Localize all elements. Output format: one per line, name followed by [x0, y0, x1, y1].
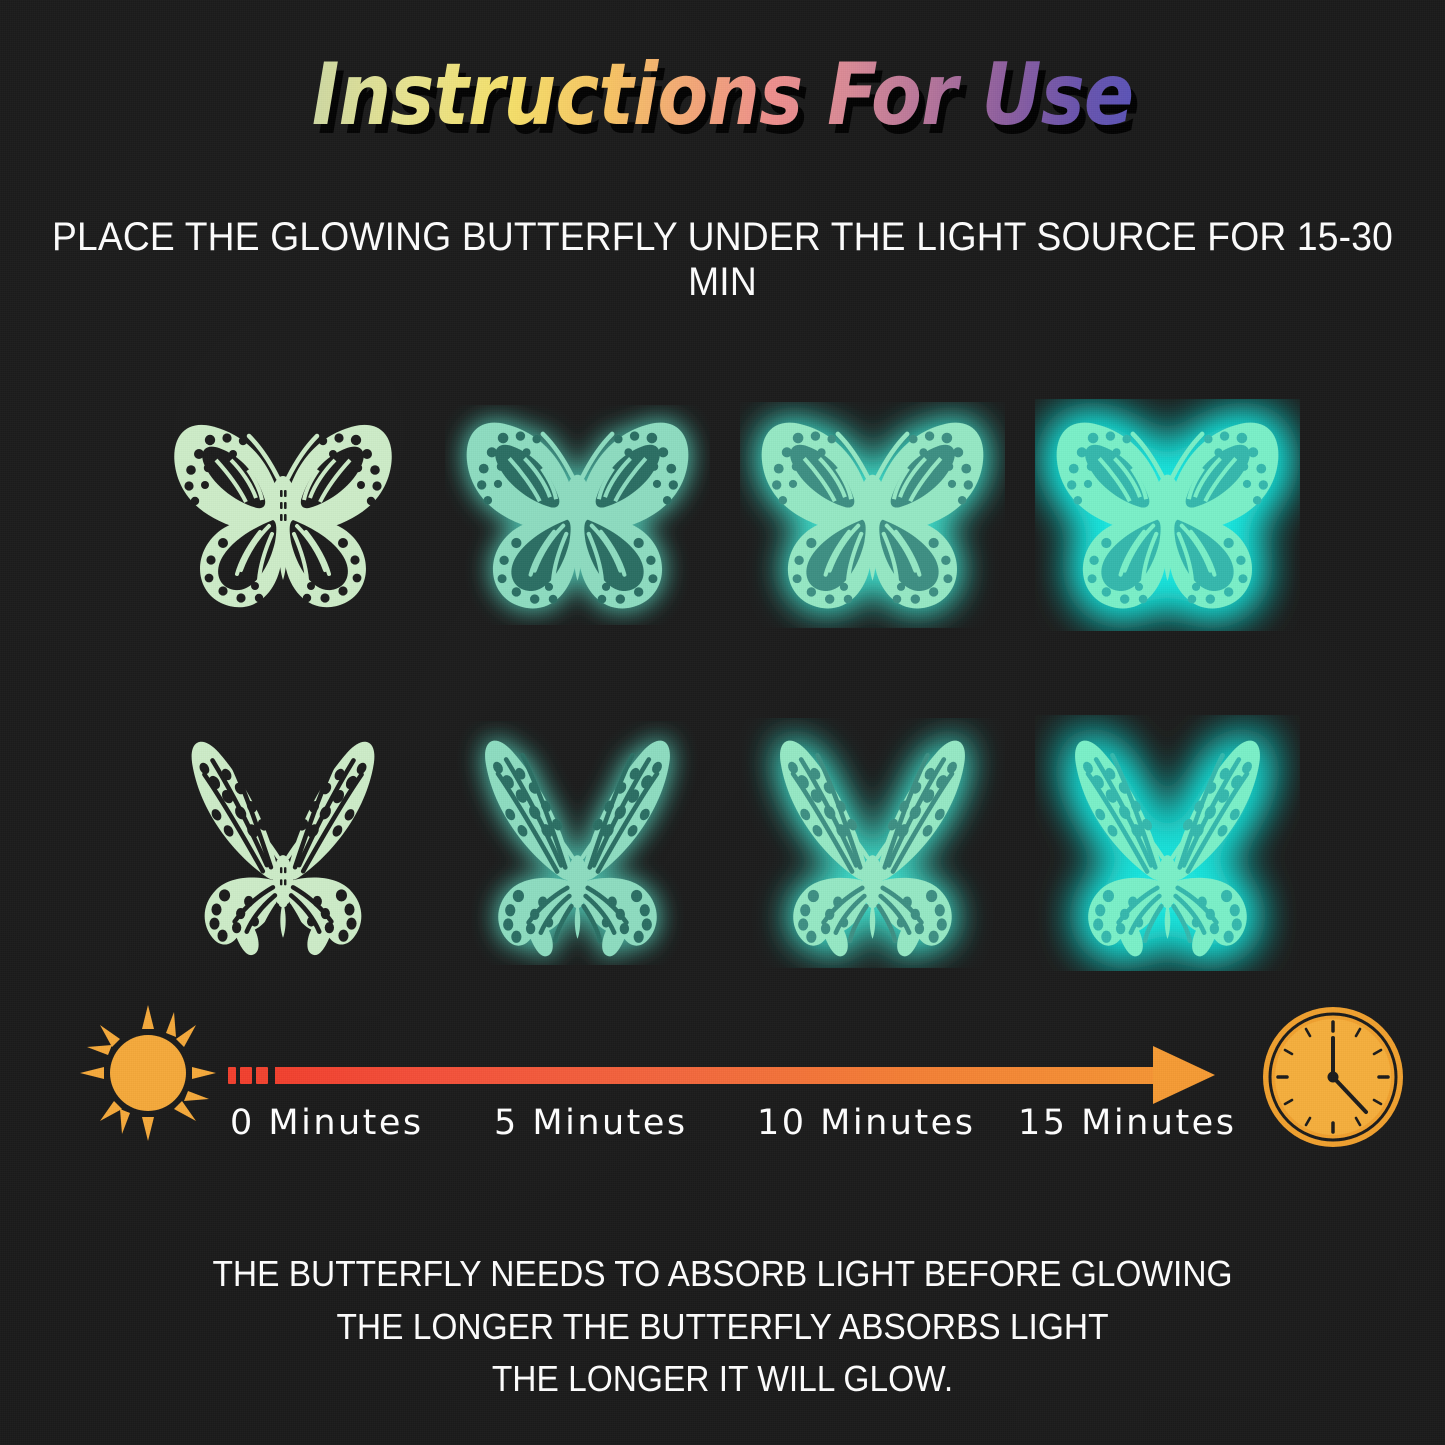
- tick-label-3: 15 Minutes: [1018, 1103, 1236, 1143]
- bar-dash: [256, 1067, 268, 1084]
- time-progress-bar: [228, 1049, 1243, 1101]
- butterfly-row-top: [150, 400, 1300, 630]
- swallowtail-stage-2: [740, 718, 1005, 968]
- tick-label-0: 0 Minutes: [230, 1103, 424, 1143]
- instruction-subtitle: PLACE THE GLOWING BUTTERFLY UNDER THE LI…: [51, 215, 1395, 305]
- swallowtail-butterfly-icon: [152, 724, 414, 962]
- arrow-head-icon: [1153, 1046, 1215, 1104]
- bar-dash: [228, 1067, 236, 1084]
- butterfly-row-bottom: [150, 718, 1300, 968]
- bar-dash: [240, 1067, 252, 1084]
- footer-note: THE BUTTERFLY NEEDS TO ABSORB LIGHT BEFO…: [51, 1248, 1395, 1406]
- timeline-tick-labels: 0 Minutes 5 Minutes 10 Minutes 15 Minute…: [0, 1103, 1445, 1153]
- tick-label-1: 5 Minutes: [494, 1103, 688, 1143]
- tick-label-2: 10 Minutes: [757, 1103, 975, 1143]
- butterfly-stage-3: [1035, 400, 1300, 630]
- swallowtail-stage-0: [150, 718, 415, 968]
- footer-line-3: THE LONGER IT WILL GLOW.: [51, 1353, 1395, 1406]
- footer-line-2: THE LONGER THE BUTTERFLY ABSORBS LIGHT: [51, 1301, 1395, 1354]
- clock-icon: [1258, 1002, 1408, 1152]
- bar-fill: [275, 1067, 1155, 1084]
- butterfly-icon-round: [153, 408, 413, 623]
- exposure-timeline: 0 Minutes 5 Minutes 10 Minutes 15 Minute…: [0, 995, 1445, 1170]
- butterfly-icon-round: [1035, 399, 1300, 631]
- swallowtail-butterfly-icon: [445, 721, 710, 965]
- title-banner: Instructions For Use: [0, 52, 1445, 138]
- butterfly-icon-round: [740, 402, 1005, 628]
- butterfly-stage-0: [150, 400, 415, 630]
- footer-line-1: THE BUTTERFLY NEEDS TO ABSORB LIGHT BEFO…: [51, 1248, 1395, 1301]
- butterfly-icon-round: [445, 405, 710, 625]
- swallowtail-butterfly-icon: [1035, 715, 1300, 971]
- butterfly-stage-2: [740, 400, 1005, 630]
- page-title: Instructions For Use: [312, 52, 1133, 138]
- swallowtail-stage-1: [445, 718, 710, 968]
- swallowtail-stage-3: [1035, 718, 1300, 968]
- butterfly-stage-1: [445, 400, 710, 630]
- swallowtail-butterfly-icon: [740, 718, 1005, 968]
